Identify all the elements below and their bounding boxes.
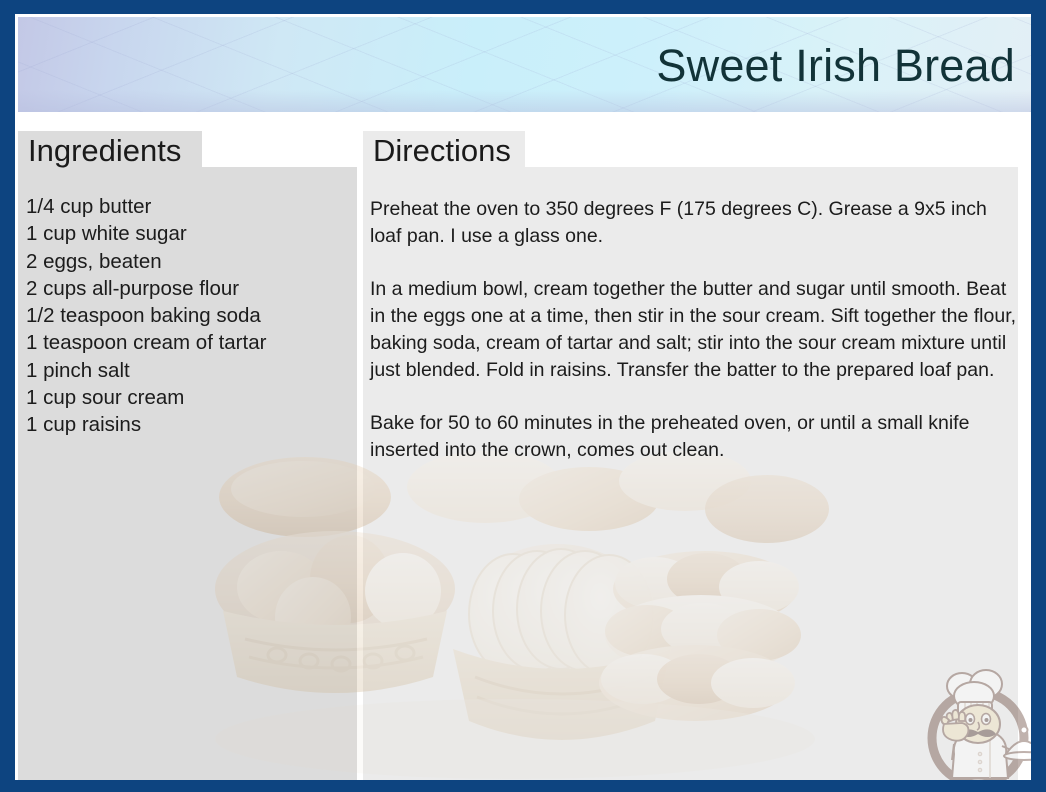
directions-heading: Directions xyxy=(373,133,511,169)
page-title: Sweet Irish Bread xyxy=(656,39,1015,93)
list-item: 1/2 teaspoon baking soda xyxy=(26,302,346,329)
list-item: 2 cups all-purpose flour xyxy=(26,275,346,302)
ingredients-heading: Ingredients xyxy=(28,133,181,169)
directions-tab: Directions xyxy=(363,131,525,171)
ingredients-list: 1/4 cup butter 1 cup white sugar 2 eggs,… xyxy=(26,193,346,439)
title-banner: Sweet Irish Bread xyxy=(18,17,1031,112)
ingredients-tab: Ingredients xyxy=(18,131,202,171)
directions-paragraph: In a medium bowl, cream together the but… xyxy=(370,276,1018,384)
list-item: 1 cup white sugar xyxy=(26,220,346,247)
list-item: 1/4 cup butter xyxy=(26,193,346,220)
list-item: 1 cup sour cream xyxy=(26,384,346,411)
directions-text: Preheat the oven to 350 degrees F (175 d… xyxy=(370,196,1018,464)
list-item: 1 pinch salt xyxy=(26,357,346,384)
list-item: 2 eggs, beaten xyxy=(26,248,346,275)
list-item: 1 teaspoon cream of tartar xyxy=(26,329,346,356)
list-item: 1 cup raisins xyxy=(26,411,346,438)
recipe-slide: Sweet Irish Bread xyxy=(0,0,1046,792)
directions-paragraph: Preheat the oven to 350 degrees F (175 d… xyxy=(370,196,1018,250)
directions-paragraph: Bake for 50 to 60 minutes in the preheat… xyxy=(370,410,1018,464)
